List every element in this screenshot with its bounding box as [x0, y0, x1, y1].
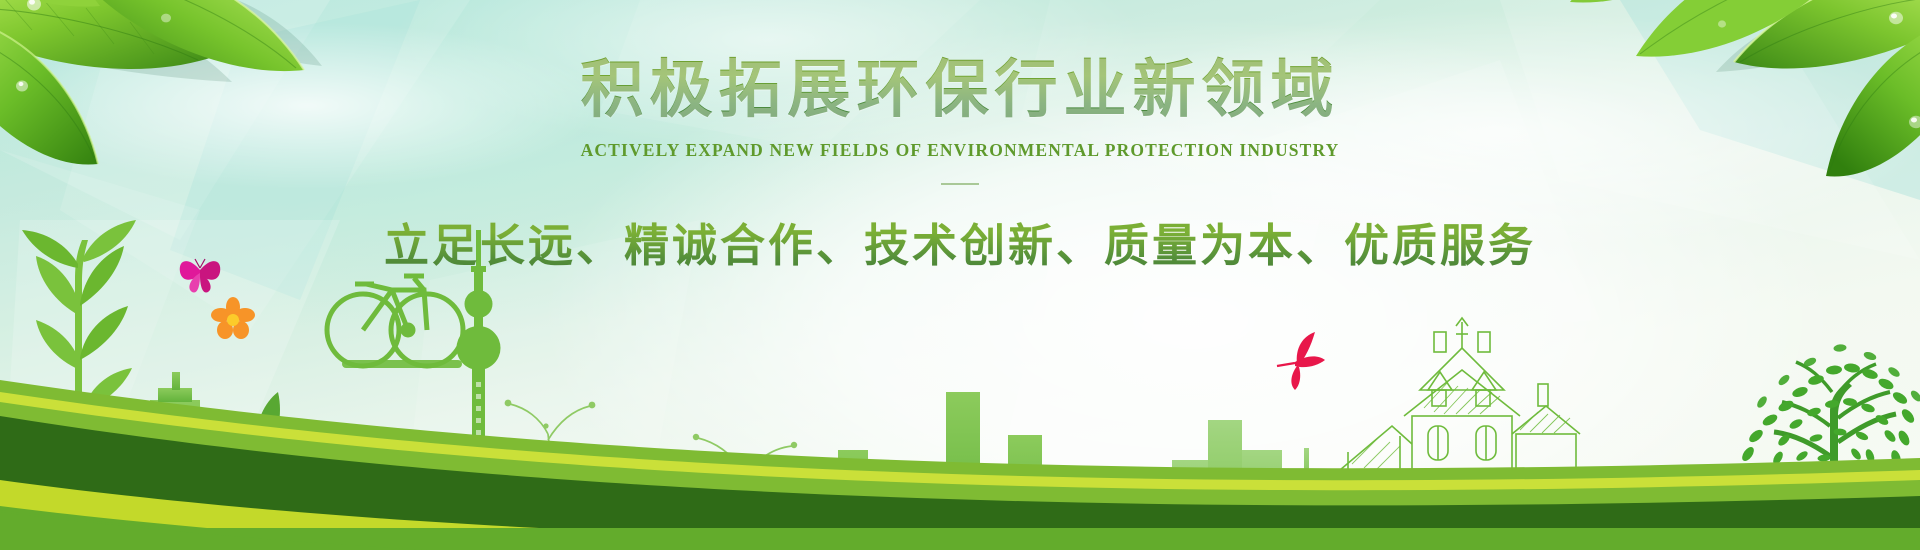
eco-banner: 积极拓展环保行业新领域 ACTIVELY EXPAND NEW FIELDS O… — [0, 0, 1920, 550]
banner-text-block: 积极拓展环保行业新领域 ACTIVELY EXPAND NEW FIELDS O… — [0, 56, 1920, 274]
divider — [941, 183, 979, 185]
wave-ribbon-icon — [0, 320, 1920, 550]
page-tagline: 立足长远、精诚合作、技术创新、质量为本、优质服务 — [0, 209, 1920, 274]
page-subtitle: ACTIVELY EXPAND NEW FIELDS OF ENVIRONMEN… — [0, 140, 1920, 161]
page-title: 积极拓展环保行业新领域 — [0, 56, 1920, 124]
